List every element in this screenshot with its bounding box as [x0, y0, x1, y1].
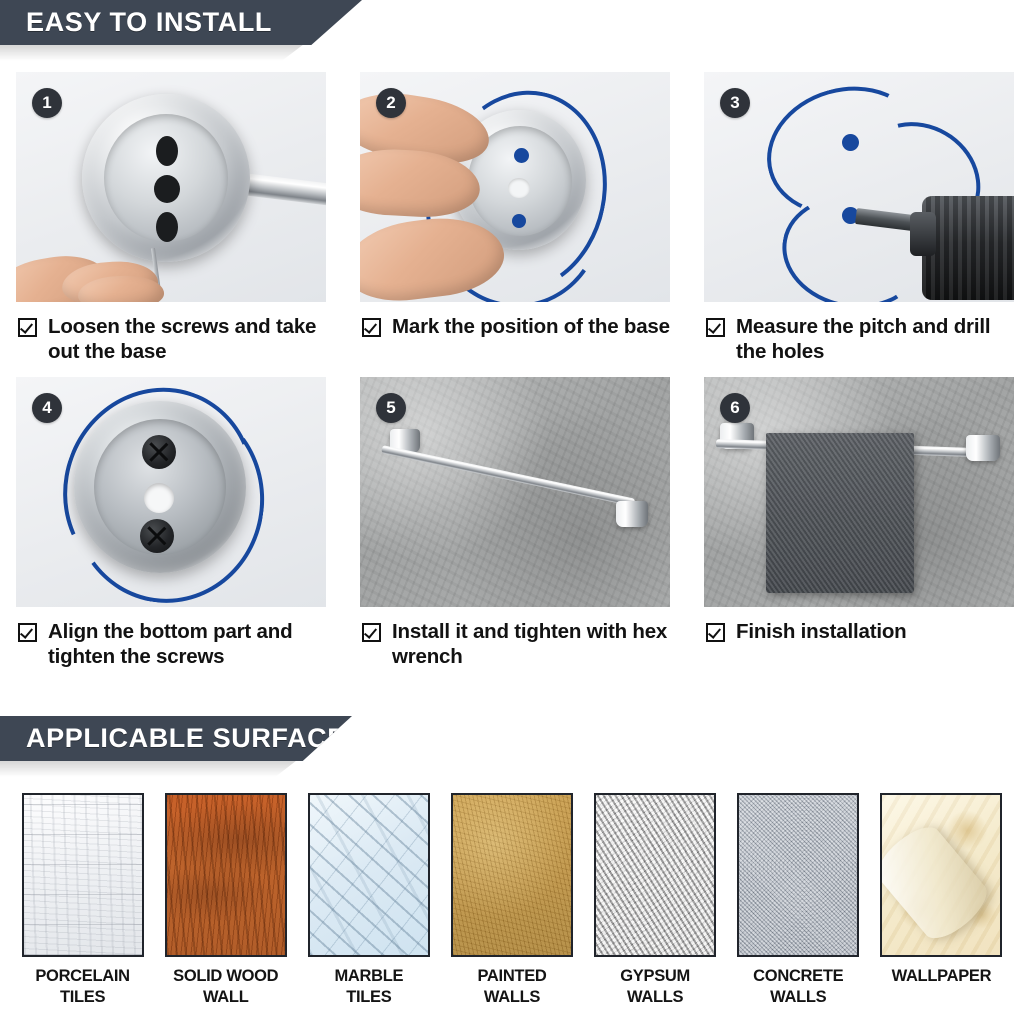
- step-1-caption: Loosen the screws and take out the base: [16, 314, 326, 365]
- bracket-right: [616, 501, 648, 527]
- surface-swatch-solid-wood-wall: [165, 793, 287, 957]
- mark-dot-top: [514, 148, 529, 163]
- section-title-easy-to-install: EASY TO INSTALL: [26, 9, 272, 36]
- bracket-right: [966, 435, 1000, 461]
- checkbox-checked-icon: [362, 318, 381, 337]
- surface-swatch-marble-tiles: [308, 793, 430, 957]
- surface-swatch-painted-walls: [451, 793, 573, 957]
- step-5-photo: 5: [360, 377, 670, 607]
- step-1-photo: 1: [16, 72, 326, 302]
- checkbox-checked-icon: [362, 623, 381, 642]
- install-step-3: 3 Measure the pitch and drill the holes: [704, 72, 1014, 365]
- photo-background-concrete-wall: [360, 377, 670, 607]
- screw-top: [142, 435, 176, 469]
- checkbox-checked-icon: [18, 318, 37, 337]
- step-2-caption: Mark the position of the base: [360, 314, 670, 339]
- surface-label: GYPSUM WALLS: [620, 966, 690, 1008]
- surface-swatch-concrete-walls: [737, 793, 859, 957]
- applicable-surfaces-row: PORCELAIN TILES SOLID WOOD WALL MARBLE T…: [16, 793, 1008, 1008]
- step-3-caption: Measure the pitch and drill the holes: [704, 314, 1014, 365]
- install-step-5: 5 Install it and tighten with hex wrench: [360, 377, 670, 670]
- step-6-caption: Finish installation: [704, 619, 1014, 644]
- step-6-photo: 6: [704, 377, 1014, 607]
- surface-label: MARBLE TILES: [334, 966, 403, 1008]
- surface-label: SOLID WOOD WALL: [173, 966, 278, 1008]
- checkbox-checked-icon: [18, 623, 37, 642]
- step-caption-text: Align the bottom part and tighten the sc…: [48, 619, 326, 670]
- step-number-badge: 4: [32, 393, 62, 423]
- surface-item-solid-wood-wall: SOLID WOOD WALL: [159, 793, 292, 1008]
- step-number-badge: 5: [376, 393, 406, 423]
- texture-painted: [453, 795, 571, 955]
- install-step-2: 2 Mark the position of the base: [360, 72, 670, 365]
- surface-swatch-wallpaper: [880, 793, 1002, 957]
- center-hole: [508, 178, 530, 198]
- step-5-caption: Install it and tighten with hex wrench: [360, 619, 670, 670]
- surface-swatch-porcelain-tiles: [22, 793, 144, 957]
- drill-mark-top: [842, 134, 859, 151]
- surface-item-marble-tiles: MARBLE TILES: [302, 793, 435, 1008]
- checkbox-checked-icon: [706, 623, 725, 642]
- step-2-photo: 2: [360, 72, 670, 302]
- texture-porcelain: [24, 795, 142, 955]
- step-3-photo: 3: [704, 72, 1014, 302]
- drill-collar: [910, 212, 936, 256]
- step-caption-text: Install it and tighten with hex wrench: [392, 619, 670, 670]
- install-steps-grid: 1 Loosen the screws and take out the bas…: [16, 72, 1016, 670]
- center-hole: [144, 483, 174, 513]
- install-step-4: 4 Align the bottom part and tighten the …: [16, 377, 326, 670]
- base-slot-top: [156, 136, 178, 166]
- step-number-badge: 3: [720, 88, 750, 118]
- surface-item-porcelain-tiles: PORCELAIN TILES: [16, 793, 149, 1008]
- step-number-badge: 2: [376, 88, 406, 118]
- section-title-applicable-surface: APPLICABLE SURFACE: [26, 725, 346, 752]
- step-caption-text: Mark the position of the base: [392, 314, 670, 339]
- checkbox-checked-icon: [706, 318, 725, 337]
- surface-item-concrete-walls: CONCRETE WALLS: [732, 793, 865, 1008]
- texture-marble: [310, 795, 428, 955]
- surface-item-gypsum-walls: GYPSUM WALLS: [589, 793, 722, 1008]
- surface-swatch-gypsum-walls: [594, 793, 716, 957]
- section-banner-easy-to-install: EASY TO INSTALL: [0, 0, 362, 45]
- base-slot-middle: [154, 175, 180, 203]
- texture-wood: [167, 795, 285, 955]
- step-caption-text: Finish installation: [736, 619, 906, 644]
- step-caption-text: Loosen the screws and take out the base: [48, 314, 326, 365]
- surface-label: WALLPAPER: [892, 966, 992, 987]
- screw-bottom: [140, 519, 174, 553]
- surface-label: PORCELAIN TILES: [35, 966, 129, 1008]
- surface-label: CONCRETE WALLS: [753, 966, 843, 1008]
- surface-label: PAINTED WALLS: [477, 966, 546, 1008]
- towel: [766, 433, 914, 593]
- section-banner-applicable-surface: APPLICABLE SURFACE: [0, 716, 352, 761]
- step-4-caption: Align the bottom part and tighten the sc…: [16, 619, 326, 670]
- install-step-6: 6 Finish installation: [704, 377, 1014, 670]
- texture-concrete: [739, 795, 857, 955]
- texture-gypsum: [596, 795, 714, 955]
- step-4-photo: 4: [16, 377, 326, 607]
- step-caption-text: Measure the pitch and drill the holes: [736, 314, 1014, 365]
- step-number-badge: 6: [720, 393, 750, 423]
- banner-shadow-easy-to-install: [0, 45, 352, 61]
- mark-dot-bottom: [512, 214, 526, 228]
- base-slot-bottom: [156, 212, 178, 242]
- install-step-1: 1 Loosen the screws and take out the bas…: [16, 72, 326, 365]
- step-number-badge: 1: [32, 88, 62, 118]
- banner-shadow-applicable-surface: [0, 761, 344, 777]
- surface-item-painted-walls: PAINTED WALLS: [445, 793, 578, 1008]
- surface-item-wallpaper: WALLPAPER: [875, 793, 1008, 1008]
